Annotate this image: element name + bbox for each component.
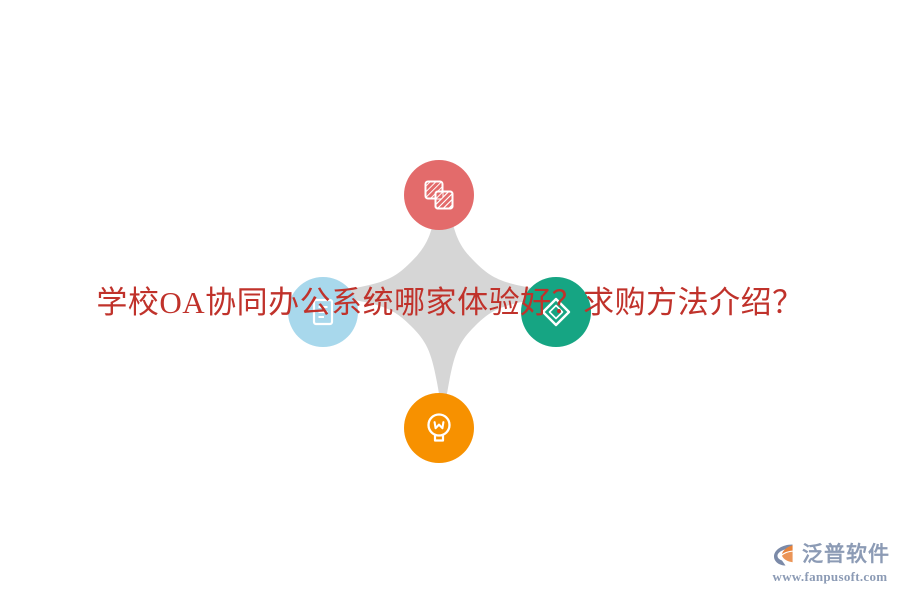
watermark-brand-name: 泛普软件 bbox=[802, 541, 890, 567]
lightbulb-icon bbox=[422, 410, 456, 446]
watermark-logo: 泛普软件 www.fanpusoft.com bbox=[770, 536, 890, 588]
copy-layers-icon bbox=[422, 178, 456, 212]
watermark-brand-row: 泛普软件 bbox=[770, 540, 890, 568]
node-bottom-idea[interactable] bbox=[404, 393, 474, 463]
node-top-copy[interactable] bbox=[404, 160, 474, 230]
image-canvas: 学校OA协同办公系统哪家体验好？求购方法介绍？ 泛普软件 www.fanpuso… bbox=[0, 0, 900, 600]
fanpu-logo-icon bbox=[770, 540, 798, 568]
watermark-url: www.fanpusoft.com bbox=[773, 569, 888, 585]
page-title: 学校OA协同办公系统哪家体验好？求购方法介绍？ bbox=[0, 283, 900, 323]
